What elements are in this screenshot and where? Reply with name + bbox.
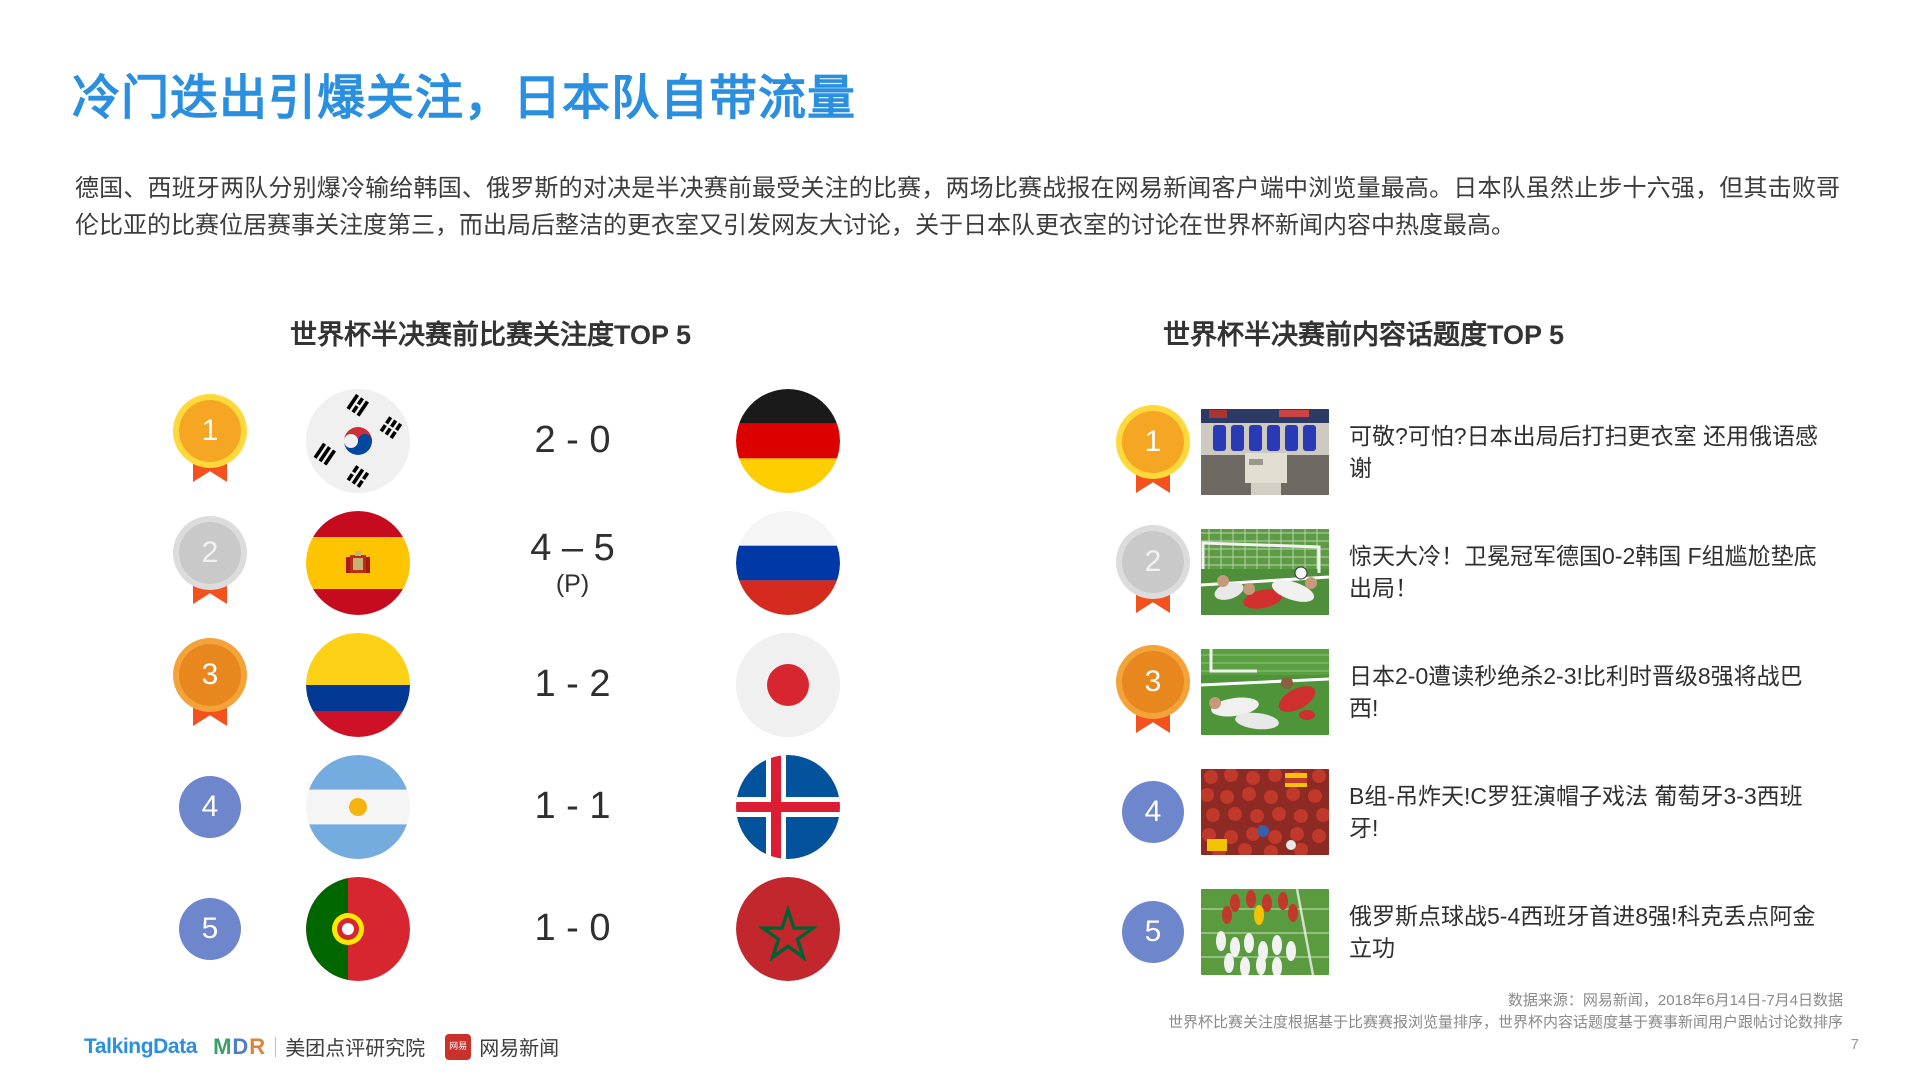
rank-cell: 1 — [1105, 411, 1201, 493]
match-row: 4 1 - 1 — [150, 746, 880, 868]
rank-badge-plain: 4 — [179, 776, 241, 838]
away-flag-cell — [700, 755, 875, 859]
away-flag-cell — [700, 877, 875, 981]
rank-number: 3 — [1122, 651, 1184, 713]
celebration-photo — [1201, 889, 1329, 975]
match-score: 4 – 5 (P) — [445, 529, 700, 597]
match-row: 3 1 - 2 — [150, 624, 880, 746]
home-flag-cell — [270, 755, 445, 859]
match-score: 1 - 2 — [445, 665, 700, 705]
mdr-letter-r: R — [249, 1034, 266, 1059]
rank-cell: 3 — [1105, 651, 1201, 733]
netease-news-logo: 网易新闻 — [479, 1032, 559, 1061]
right-section-heading: 世界杯半决赛前内容话题度TOP 5 — [1163, 313, 1564, 352]
russia-flag-icon — [736, 511, 840, 615]
japan-flag-icon — [736, 633, 840, 737]
rank-cell: 2 — [1105, 531, 1201, 613]
page-number: 7 — [1851, 1036, 1859, 1053]
footer-logos: TalkingData MDR 美团点评研究院 网易 网易新闻 — [84, 1032, 559, 1061]
match-score: 1 - 0 — [445, 909, 700, 949]
score-main: 1 - 2 — [534, 663, 610, 705]
medal-badge-silver: 2 — [1122, 531, 1184, 613]
score-sub: (P) — [445, 571, 700, 597]
news-row[interactable]: 3 — [1105, 632, 1865, 752]
source-line-1: 数据来源：网易新闻，2018年6月14日-7月4日数据 — [1508, 992, 1843, 1009]
rank-number: 3 — [179, 644, 241, 706]
talkingdata-logo: TalkingData — [84, 1035, 197, 1059]
iceland-flag-icon — [736, 755, 840, 859]
news-row[interactable]: 2 — [1105, 512, 1865, 632]
match-row: 5 1 - 0 — [150, 868, 880, 990]
home-flag-cell — [270, 877, 445, 981]
morocco-flag-icon — [736, 877, 840, 981]
slide-root: 冷门迭出引爆关注，日本队自带流量 德国、西班牙两队分别爆冷输给韩国、俄罗斯的对决… — [0, 0, 1921, 1080]
rank-badge-plain: 5 — [1122, 901, 1184, 963]
home-flag-cell — [270, 389, 445, 493]
match-score: 1 - 1 — [445, 787, 700, 827]
news-ranking-list: 1 — [1105, 392, 1865, 992]
news-title[interactable]: B组-吊炸天!C罗狂演帽子戏法 葡萄牙3-3西班牙! — [1349, 780, 1819, 844]
left-section-heading: 世界杯半决赛前比赛关注度TOP 5 — [290, 313, 691, 352]
rank-cell: 4 — [1105, 781, 1201, 843]
news-row[interactable]: 4 — [1105, 752, 1865, 872]
rank-cell: 3 — [150, 644, 270, 726]
score-main: 2 - 0 — [534, 419, 610, 461]
news-title[interactable]: 俄罗斯点球战5-4西班牙首进8强!科克丢点阿金立功 — [1349, 900, 1819, 964]
news-row[interactable]: 1 — [1105, 392, 1865, 512]
meituan-research-logo: 美团点评研究院 — [285, 1032, 425, 1061]
medal-badge-gold: 1 — [179, 400, 241, 482]
score-main: 1 - 1 — [534, 785, 610, 827]
medal-badge-bronze: 3 — [1122, 651, 1184, 733]
rank-badge-plain: 4 — [1122, 781, 1184, 843]
source-note: 数据来源：网易新闻，2018年6月14日-7月4日数据 世界杯比赛关注度根据基于… — [1168, 990, 1843, 1034]
germany-flag-icon — [736, 389, 840, 493]
match-ranking-list: 1 — [150, 380, 880, 990]
locker-room-photo — [1201, 409, 1329, 495]
argentina-flag-icon — [306, 755, 410, 859]
logo-divider — [275, 1037, 276, 1057]
rank-cell: 4 — [150, 776, 270, 838]
home-flag-cell — [270, 511, 445, 615]
mdr-letter-d: D — [232, 1034, 249, 1059]
away-flag-cell — [700, 633, 875, 737]
goal-save-photo — [1201, 529, 1329, 615]
rank-cell: 5 — [150, 898, 270, 960]
match-row: 2 — [150, 502, 880, 624]
red-crowd-photo — [1201, 769, 1329, 855]
news-title[interactable]: 日本2-0遭读秒绝杀2-3!比利时晋级8强将战巴西! — [1349, 660, 1819, 724]
rank-cell: 2 — [150, 522, 270, 604]
rank-number: 1 — [179, 400, 241, 462]
korea-south-flag-icon — [306, 389, 410, 493]
news-title[interactable]: 惊天大冷！卫冕冠军德国0-2韩国 F组尴尬垫底出局！ — [1349, 540, 1819, 604]
away-flag-cell — [700, 389, 875, 493]
source-line-2: 世界杯比赛关注度根据基于比赛赛报浏览量排序，世界杯内容话题度基于赛事新闻用户跟帖… — [1168, 1012, 1843, 1034]
colombia-flag-icon — [306, 633, 410, 737]
home-flag-cell — [270, 633, 445, 737]
news-row[interactable]: 5 — [1105, 872, 1865, 992]
page-title: 冷门迭出引爆关注，日本队自带流量 — [72, 58, 856, 128]
medal-badge-silver: 2 — [179, 522, 241, 604]
rank-number: 2 — [179, 522, 241, 584]
medal-badge-bronze: 3 — [179, 644, 241, 726]
rank-number: 1 — [1122, 411, 1184, 473]
players-on-ground-photo — [1201, 649, 1329, 735]
netease-badge-icon: 网易 — [445, 1034, 471, 1060]
intro-paragraph: 德国、西班牙两队分别爆冷输给韩国、俄罗斯的对决是半决赛前最受关注的比赛，两场比赛… — [75, 170, 1840, 244]
rank-cell: 1 — [150, 400, 270, 482]
mdr-letter-m: M — [213, 1034, 232, 1059]
news-title[interactable]: 可敬?可怕?日本出局后打扫更衣室 还用俄语感谢 — [1349, 420, 1819, 484]
score-main: 1 - 0 — [534, 907, 610, 949]
rank-number: 2 — [1122, 531, 1184, 593]
rank-cell: 5 — [1105, 901, 1201, 963]
away-flag-cell — [700, 511, 875, 615]
mdr-logo: MDR — [213, 1034, 266, 1060]
rank-badge-plain: 5 — [179, 898, 241, 960]
spain-flag-icon — [306, 511, 410, 615]
match-row: 1 — [150, 380, 880, 502]
score-main: 4 – 5 — [530, 527, 615, 569]
portugal-flag-icon — [306, 877, 410, 981]
medal-badge-gold: 1 — [1122, 411, 1184, 493]
match-score: 2 - 0 — [445, 421, 700, 461]
